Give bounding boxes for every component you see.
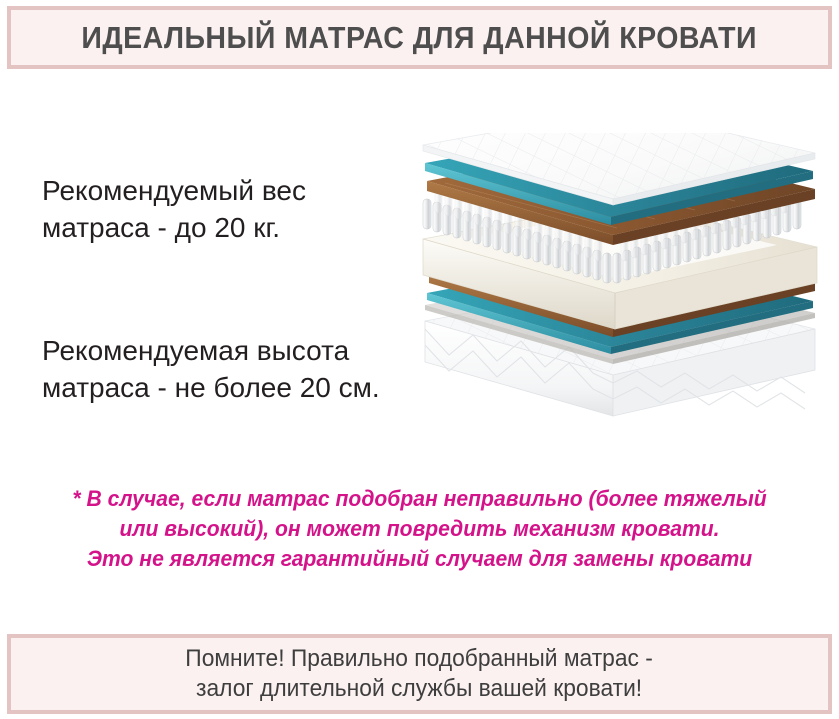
warning-line-3: Это не является гарантийный случаем для … [17, 544, 822, 574]
recommendation-weight-line2: матраса - до 20 кг. [42, 209, 306, 246]
recommendation-weight: Рекомендуемый вес матраса - до 20 кг. [42, 172, 306, 246]
header-banner: ИДЕАЛЬНЫЙ МАТРАС ДЛЯ ДАННОЙ КРОВАТИ [7, 6, 832, 69]
exploded-mattress-illustration [405, 133, 835, 443]
footer-line-1: Помните! Правильно подобранный матрас - [186, 644, 654, 674]
warning-line-2: или высокий), он может повредить механиз… [17, 514, 822, 544]
recommendation-height: Рекомендуемая высота матраса - не более … [42, 332, 380, 406]
footer-message: Помните! Правильно подобранный матрас - … [186, 644, 654, 705]
page-title: ИДЕАЛЬНЫЙ МАТРАС ДЛЯ ДАННОЙ КРОВАТИ [82, 22, 758, 53]
footer-line-2: залог длительной службы вашей кровати! [186, 674, 654, 704]
recommendation-weight-line1: Рекомендуемый вес [42, 172, 306, 209]
footer-banner: Помните! Правильно подобранный матрас - … [7, 634, 832, 714]
recommendation-height-line1: Рекомендуемая высота [42, 332, 380, 369]
recommendation-height-line2: матраса - не более 20 см. [42, 369, 380, 406]
warning-note: * В случае, если матрас подобран неправи… [17, 484, 822, 574]
warning-line-1: * В случае, если матрас подобран неправи… [17, 484, 822, 514]
